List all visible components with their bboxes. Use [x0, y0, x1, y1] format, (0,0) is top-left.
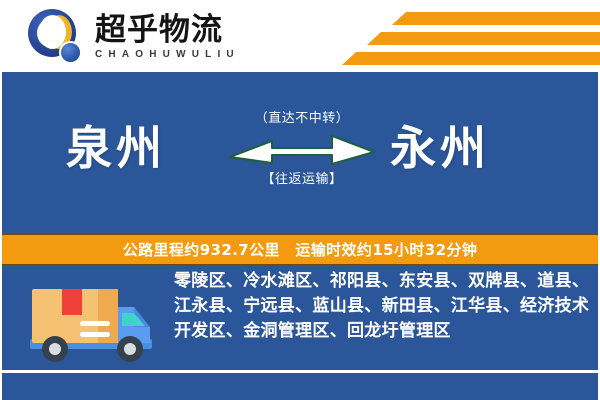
district-line: 江永县、宁远县、蓝山县、新田县、江华县、经济技术 [174, 294, 590, 319]
logistics-route-banner: 超乎物流 CHAOHUWULIU 泉州 （直达不中转） 【往返运输】 永州 [0, 0, 600, 400]
district-line: 零陵区、冷水滩区、祁阳县、东安县、双牌县、道县、 [174, 269, 590, 294]
banner-header: 超乎物流 CHAOHUWULIU [0, 0, 600, 72]
stripe-top [392, 12, 600, 25]
route-info-bar: 公路里程约932.7公里 运输时效约15小时32分钟 [2, 234, 598, 265]
delivery-truck-icon [24, 281, 160, 365]
destination-city: 永州 [390, 120, 490, 176]
brand-text-block: 超乎物流 CHAOHUWULIU [95, 13, 240, 62]
logo-accent-dot [59, 41, 82, 64]
brand-logo-group: 超乎物流 CHAOHUWULIU [26, 6, 240, 68]
route-info-text: 公路里程约932.7公里 运输时效约15小时32分钟 [123, 239, 478, 260]
stripe-bottom [342, 52, 600, 65]
coverage-section: 零陵区、冷水滩区、祁阳县、东安县、双牌县、道县、 江永县、宁远县、蓝山县、新田县… [2, 267, 598, 370]
double-arrow-icon [228, 134, 376, 166]
banner-body: 泉州 （直达不中转） 【往返运输】 永州 公路里程约932.7公里 运输时效约1… [2, 72, 598, 400]
origin-city: 泉州 [66, 120, 166, 176]
route-arrow-block: （直达不中转） 【往返运输】 [226, 110, 378, 189]
brand-name-en: CHAOHUWULIU [95, 48, 240, 62]
circle-crescent-logo-icon [26, 7, 86, 67]
district-line: 开发区、金洞管理区、回龙圩管理区 [174, 319, 590, 344]
stripe-middle [367, 32, 600, 45]
district-list: 零陵区、冷水滩区、祁阳县、东安县、双牌县、道县、 江永县、宁远县、蓝山县、新田县… [174, 269, 590, 344]
route-section: 泉州 （直达不中转） 【往返运输】 永州 [2, 72, 598, 232]
decorative-stripes [340, 6, 600, 66]
bottom-divider [2, 370, 598, 373]
brand-name-cn: 超乎物流 [95, 13, 240, 47]
route-note-roundtrip: 【往返运输】 [226, 171, 378, 189]
route-note-direct: （直达不中转） [226, 110, 378, 128]
